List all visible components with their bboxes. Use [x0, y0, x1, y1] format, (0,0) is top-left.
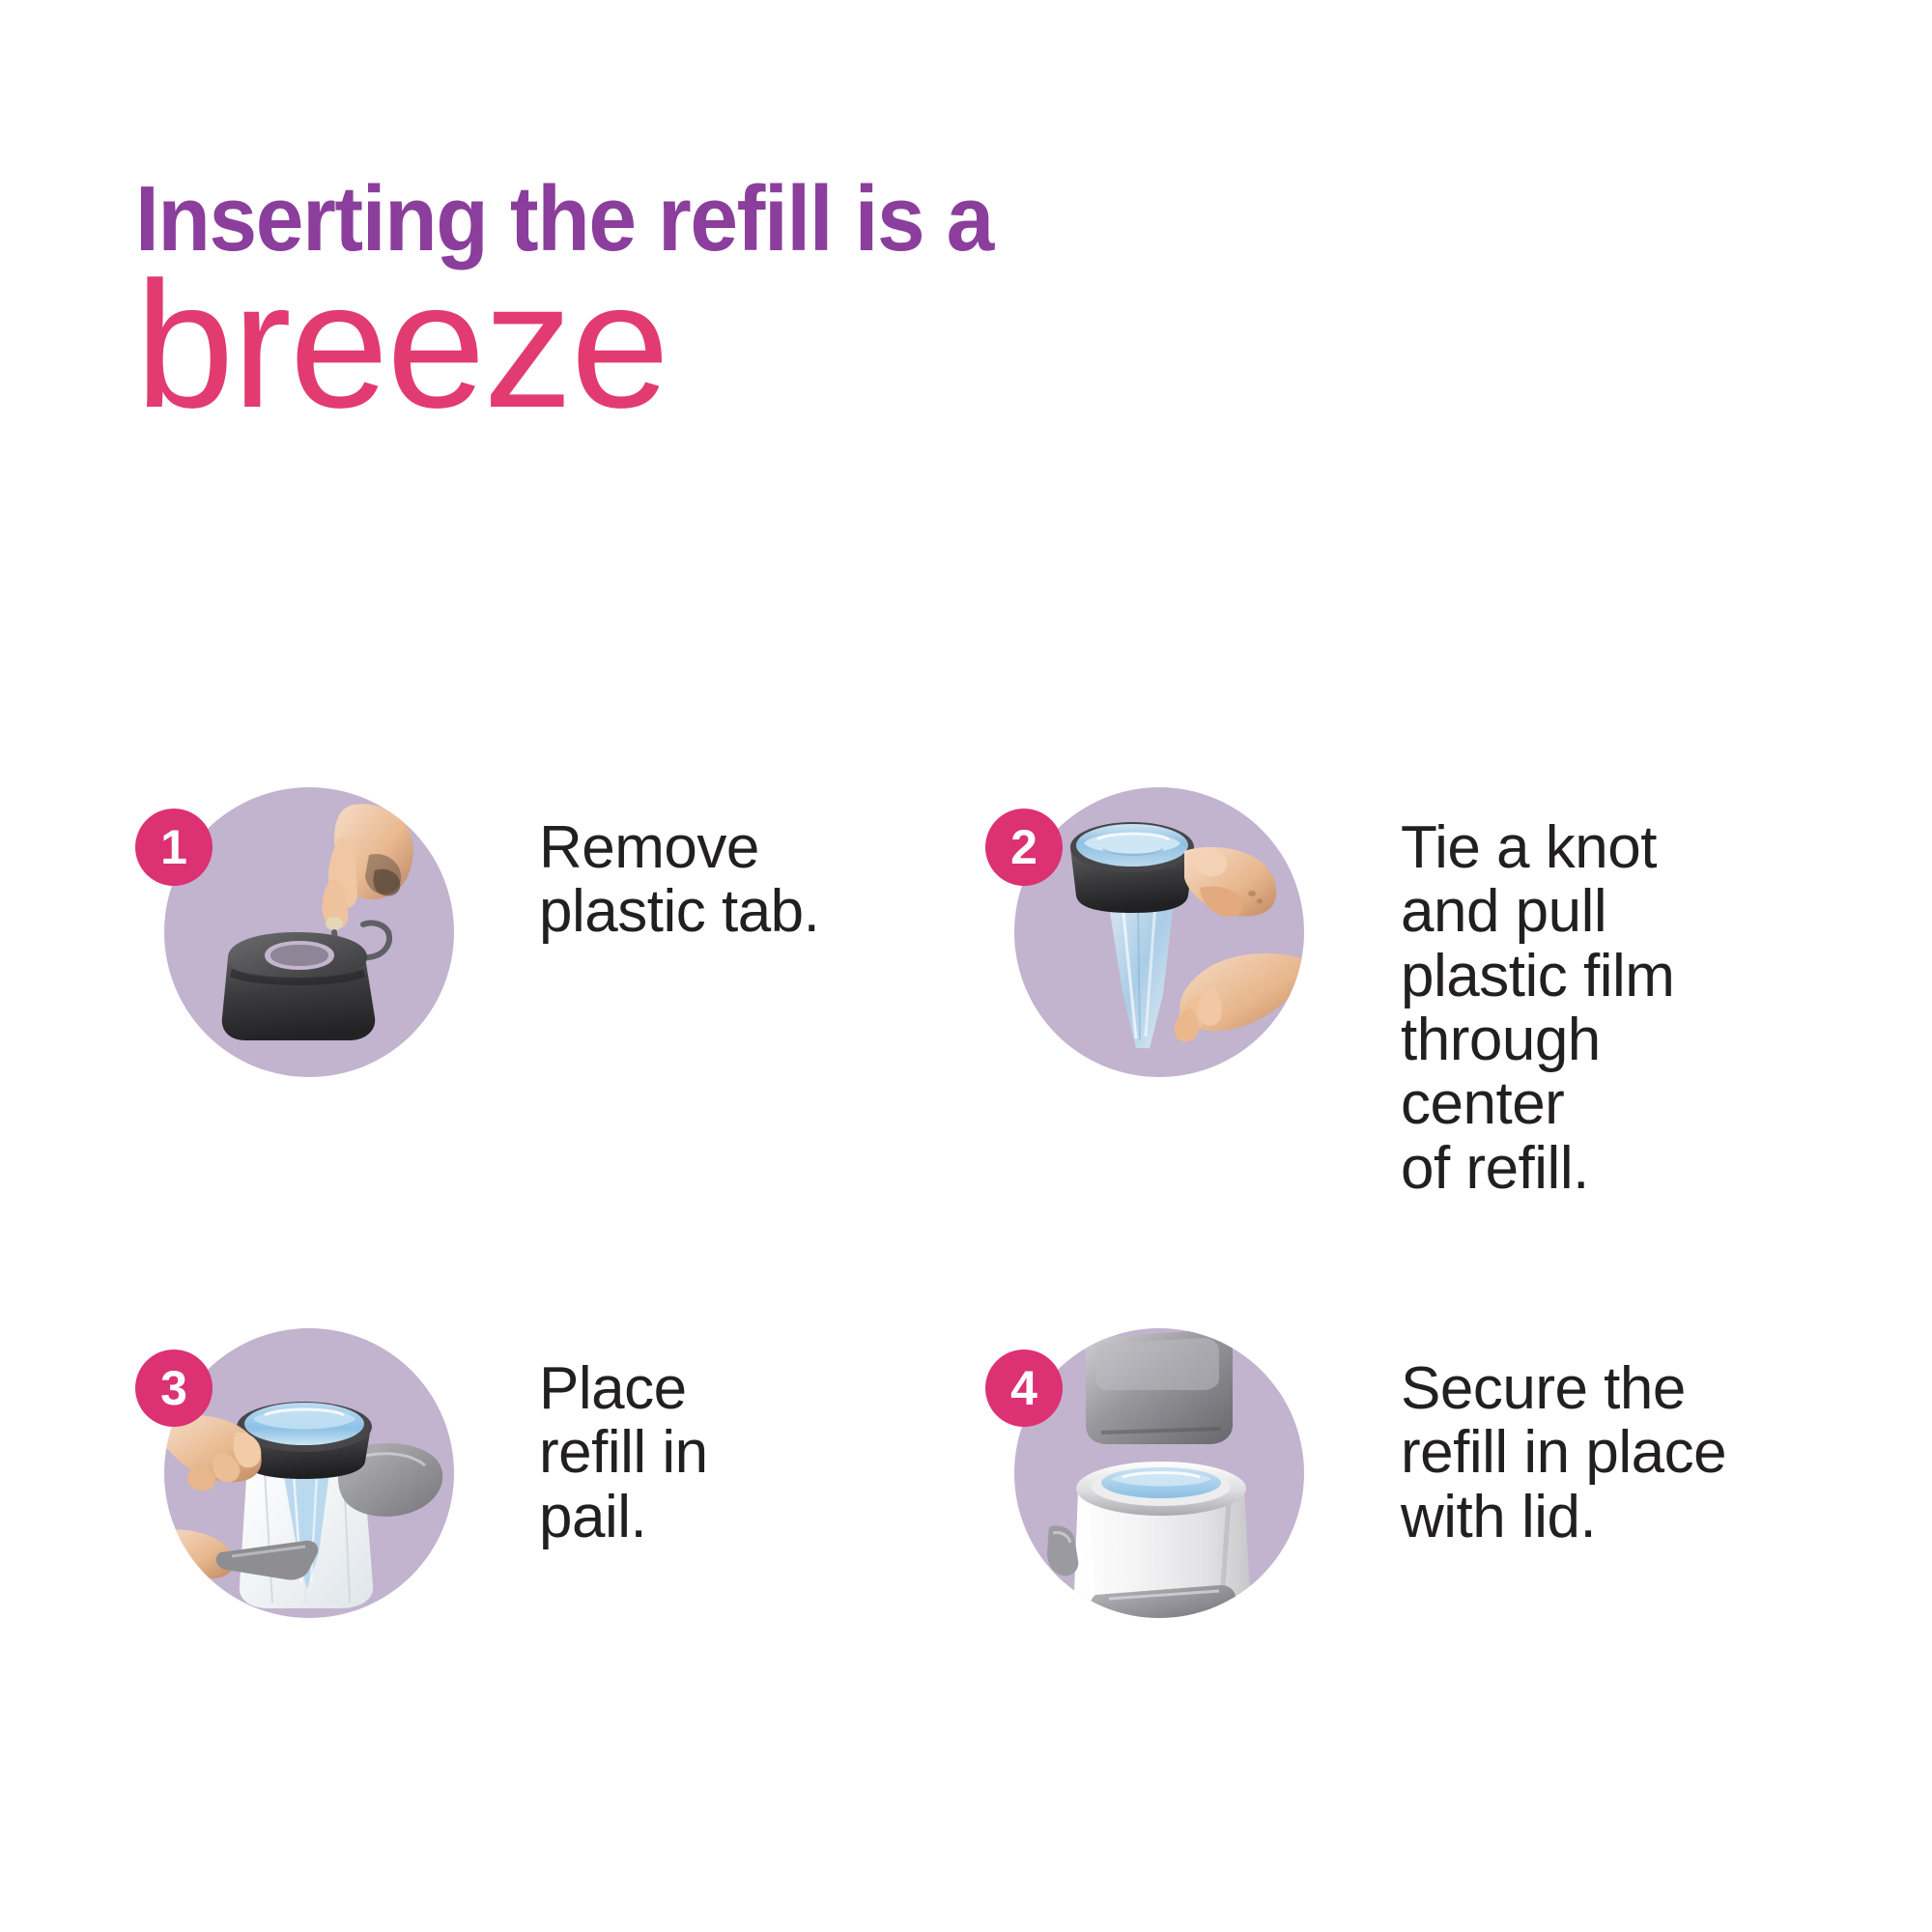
step-badge-2: 2 — [985, 809, 1063, 886]
step-badge-4: 4 — [985, 1350, 1063, 1427]
step-figure-1: 1 — [135, 787, 425, 1077]
step-figure-3: 3 — [135, 1328, 425, 1618]
step-badge-3: 3 — [135, 1350, 213, 1427]
poster-root: Inserting the refill is a breeze — [0, 0, 1932, 1932]
step-item-4: 4 Secure the refill in place with lid. — [985, 1328, 1816, 1773]
black-refill-shape — [222, 932, 375, 1040]
step-caption-2: Tie a knot and pull plastic film through… — [1401, 816, 1674, 1201]
step-figure-2: 2 — [985, 787, 1275, 1077]
step-item-1: 1 Remove plastic tab. — [135, 787, 985, 1232]
hand-shape-lower — [1175, 953, 1304, 1041]
headline-block: Inserting the refill is a breeze — [135, 174, 1391, 425]
step-item-2: 2 Tie a knot and pull plastic film throu… — [985, 787, 1816, 1232]
hand-shape-upper — [1184, 847, 1276, 917]
lid-shape — [1085, 1330, 1233, 1444]
step-caption-3: Place refill in pail. — [539, 1357, 708, 1549]
step-figure-4: 4 — [985, 1328, 1275, 1618]
step-caption-1: Remove plastic tab. — [539, 816, 819, 945]
black-refill-shape — [1070, 822, 1194, 913]
step-item-3: 3 Place refill in pail. — [135, 1328, 985, 1773]
steps-grid: 1 Remove plastic tab. — [135, 787, 1816, 1773]
headline-line-accent: breeze — [135, 267, 1378, 425]
hand-shape — [322, 804, 412, 930]
step-badge-1: 1 — [135, 809, 213, 886]
step-caption-4: Secure the refill in place with lid. — [1401, 1357, 1726, 1549]
